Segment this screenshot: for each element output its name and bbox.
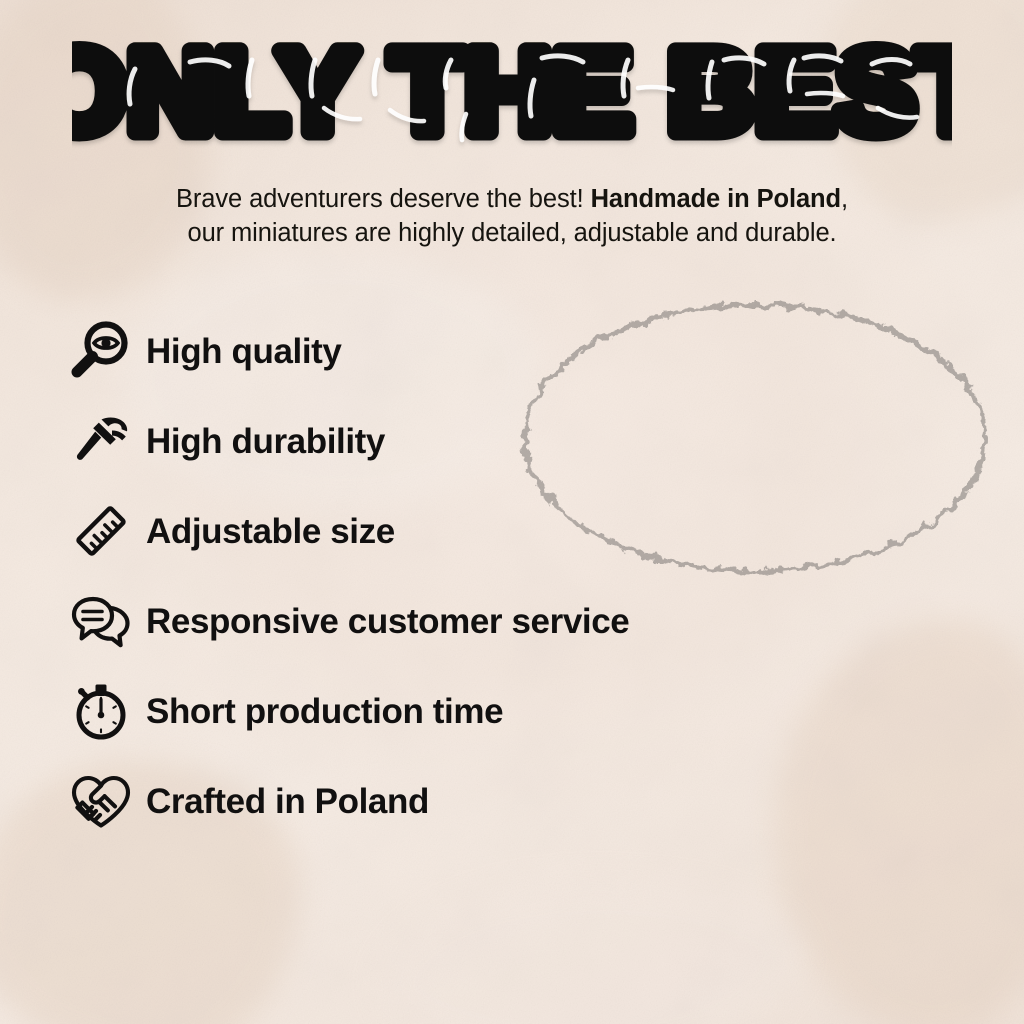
poster-canvas: ONLY THE BEST <box>0 0 1024 1024</box>
photo-workshop-painting: 2 <box>586 652 1024 1024</box>
photo-flexible-miniature <box>506 278 1004 612</box>
title-glossy-lettering: ONLY THE BEST <box>72 36 952 154</box>
magnifier-eye-icon <box>62 312 140 390</box>
heart-handshake-icon <box>62 762 140 840</box>
feature-label: High durability <box>146 424 385 459</box>
subtitle: Brave adventurers deserve the best! Hand… <box>82 182 942 250</box>
svg-text:2: 2 <box>705 671 715 688</box>
subtitle-lead: Brave adventurers deserve the best! <box>176 185 584 213</box>
subtitle-emphasis: Handmade in Poland <box>591 185 841 213</box>
stopwatch-icon <box>62 672 140 750</box>
subtitle-line-1: Brave adventurers deserve the best! Hand… <box>82 182 942 216</box>
feature-label: Short production time <box>146 694 503 729</box>
hammer-icon <box>62 402 140 480</box>
feature-label: Adjustable size <box>146 514 395 549</box>
speech-bubbles-icon <box>62 582 140 660</box>
subtitle-line-2: our miniatures are highly detailed, adju… <box>82 216 942 250</box>
subtitle-comma: , <box>841 185 848 213</box>
feature-label: Crafted in Poland <box>146 784 429 819</box>
page-title: ONLY THE BEST <box>0 36 1024 154</box>
ruler-icon <box>62 492 140 570</box>
feature-label: High quality <box>146 334 341 369</box>
